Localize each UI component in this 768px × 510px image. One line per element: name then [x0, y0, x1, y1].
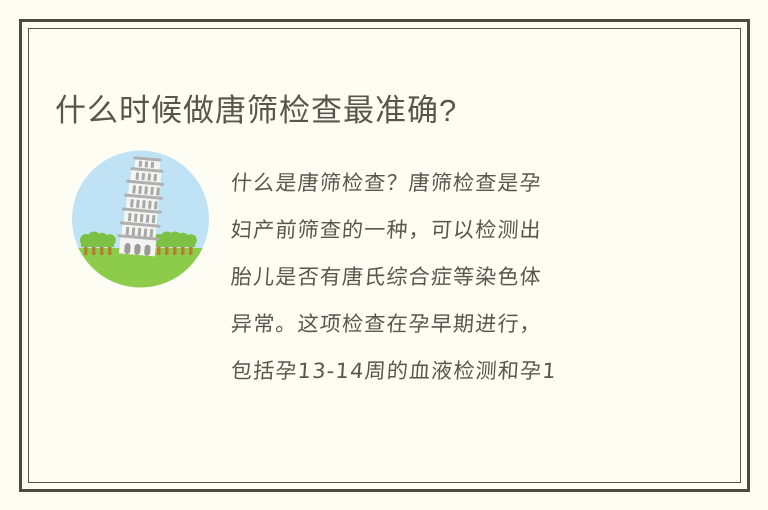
leaning-tower-of-pisa-illustration — [72, 145, 209, 293]
article-body: 什么是唐筛检查？唐筛检查是孕 妇产前筛查的一种，可以检测出 胎儿是否有唐氏综合症… — [231, 160, 661, 395]
page-title: 什么时候做唐筛检查最准确? — [55, 91, 457, 131]
body-line: 包括孕13-14周的血液检测和孕1 — [229, 348, 662, 395]
body-line: 异常。这项检查在孕早期进行， — [229, 301, 662, 348]
body-line: 胎儿是否有唐氏综合症等染色体 — [229, 254, 662, 301]
article-page: 什么时候做唐筛检查最准确? — [0, 0, 768, 510]
article-content: 什么时候做唐筛检查最准确? — [28, 28, 741, 483]
body-line: 什么是唐筛检查？唐筛检查是孕 — [229, 160, 662, 207]
pisa-tower-icon — [72, 145, 209, 293]
body-line: 妇产前筛查的一种，可以检测出 — [229, 207, 662, 254]
